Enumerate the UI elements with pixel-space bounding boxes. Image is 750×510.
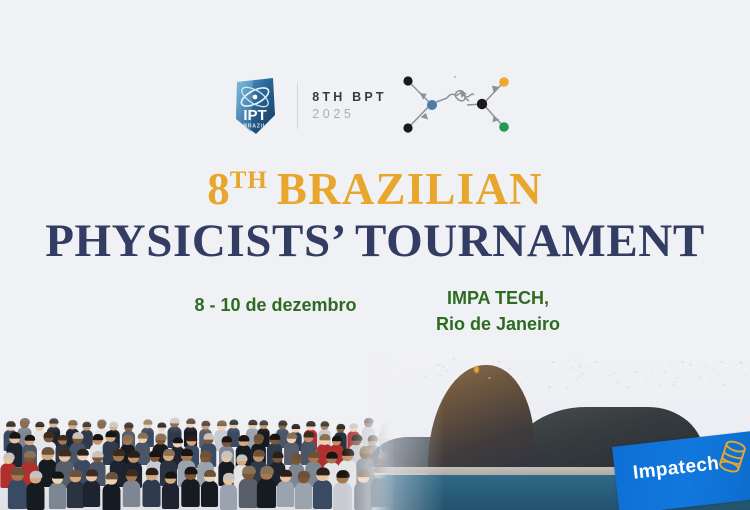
svg-text:BRAZIL: BRAZIL [244,124,267,130]
ipt-logo-icon: IPT BRAZIL [229,75,281,137]
boat [386,378,389,380]
crowd-person-hair [187,435,198,441]
event-poster: IPT BRAZIL 8TH BPT 2025 [0,0,750,510]
sugarloaf-summit-light [474,366,479,373]
boat [705,365,708,367]
page-title-line2: PHYSICISTS’ TOURNAMENT [0,218,750,265]
crowd-person-hair [41,447,54,455]
crowd-person-hair [248,420,257,425]
crowd-person-hair [186,419,195,424]
crowd-person-hair [96,420,105,425]
crowd-person-hair [58,449,71,456]
crowd-person-body [295,482,313,509]
boat [669,362,672,364]
crowd-person-hair [223,473,235,480]
graph-node-orange [499,77,509,87]
crowd-person-body [220,484,237,510]
crowd-person-hair [30,470,43,477]
crowd-person [333,471,352,510]
crowd-person-hair [298,471,310,478]
crowd-person-hair [221,436,232,442]
crowd-person [257,468,276,509]
crowd-person-body [239,479,258,509]
crowd-person-hair [72,432,83,439]
crowd-person [313,468,332,508]
boat [722,384,725,386]
impatech-mark-icon [712,434,750,482]
graph-node-dot [454,76,456,78]
crowd-person [162,472,179,508]
impatech-label: Impatech [632,453,721,485]
crowd-person-hair [5,421,15,427]
crowd-person-hair [320,421,329,426]
crowd-person-hair [145,468,158,475]
crowd-person-hair [349,424,358,429]
title-ordinal-number: 8 [207,164,230,214]
crowd-person-hair [149,450,161,457]
crowd-person-body [182,479,200,507]
boat [645,381,648,383]
crowd-person [142,469,160,507]
crowd-person-hair [163,449,175,456]
crowd-person-hair [259,420,268,425]
title-ordinal-suffix: TH [230,167,268,194]
graph-node-black-bottom [403,123,412,132]
crowd-person-hair [278,420,287,425]
boat [552,361,555,363]
crowd-person-hair [336,470,349,478]
crowd-person [182,468,200,507]
crowd-person-hair [253,434,263,440]
crowd-person-hair [272,451,283,458]
crowd-person-hair [260,466,274,474]
graph-node-green [499,122,509,132]
crowd-person-hair [69,470,81,477]
crowd-person [220,474,237,510]
crowd-person-hair [229,420,238,425]
crowd-person-hair [68,420,77,426]
crowd-person-body [142,480,160,508]
crowd-person [201,471,218,507]
crowd-person-hair [326,452,338,459]
crowd-person-hair [157,422,166,427]
crowd-person-hair [19,418,29,424]
crowd-person-hair [155,433,166,440]
crowd-person-hair [351,434,362,440]
crowd-person [277,471,294,507]
boat [498,361,501,363]
boat [559,379,562,381]
crowd-person-hair [291,454,302,460]
crowd-person [8,468,27,509]
crowd-person-body [122,481,139,508]
boat [446,370,449,372]
crowd-person-hair [203,433,214,439]
crowd-person [295,472,313,509]
crowd-person-hair [109,422,118,427]
title-line1-word: BRAZILIAN [277,164,543,214]
crowd-person-hair [303,431,314,437]
boat [699,376,702,378]
boat [713,368,716,370]
graph-node-black-top [403,76,412,85]
crowd-person-hair [308,451,320,458]
crowd-person [27,471,45,509]
crowd-person-hair [106,472,119,479]
boat [663,371,666,373]
crowd-person-body [27,482,45,510]
crowd-person-hair [203,470,215,477]
crowd-person-hair [199,451,211,458]
crowd-person-body [313,480,332,509]
crowd-person-hair [24,435,34,441]
network-graph-icon [391,68,521,144]
crowd-person-body [83,481,100,508]
venue-line1: IMPA TECH, [400,285,596,311]
crowd-person [66,471,84,508]
crowd-person-hair [170,418,180,424]
crowd-person-hair [316,467,329,475]
crowd-person-hair [57,435,67,441]
crowd-person-hair [172,437,182,443]
boat [508,368,511,370]
crowd-person [49,473,66,509]
crowd-person-hair [319,434,330,440]
crowd-person-hair [124,422,133,427]
crowd-person-hair [35,422,44,427]
boat [593,386,596,388]
event-venue: IMPA TECH, Rio de Janeiro [400,285,596,337]
boat [681,361,684,363]
boat [452,358,455,360]
crowd-person-hair [82,422,91,427]
crowd-person-hair [253,449,265,456]
crowd-person-hair [77,449,89,456]
crowd-person-hair [122,435,132,441]
boat [548,386,551,388]
crowd-person-hair [341,448,353,455]
crowd-person-hair [43,432,54,438]
crowd-person-hair [217,420,227,426]
crowd-person-hair [331,436,341,442]
crowd-person-body [162,482,179,508]
graph-node-black-center [477,99,487,109]
boat [566,387,569,389]
page-title-line1: 8THBRAZILIAN [0,167,750,212]
crowd-person-hair [242,466,256,474]
crowd-person-hair [86,470,98,477]
venue-line2: Rio de Janeiro [400,311,596,337]
boat [617,382,620,384]
crowd-person-body [103,484,121,510]
event-tag: 8TH BPT 2025 [312,89,387,123]
crowd-person-hair [221,451,232,458]
crowd-person-body [333,482,352,510]
boat [525,376,528,378]
crowd-person-hair [9,432,20,439]
boat [392,361,395,363]
crowd-person-hair [49,418,58,423]
crowd-person [83,471,100,508]
crowd-person-hair [270,434,281,440]
crowd-person-hair [184,467,197,475]
crowd-person-hair [291,424,300,429]
crowd-person [239,467,258,508]
crowd-person-hair [143,420,152,425]
crowd-person-hair [181,448,193,455]
boat [607,375,610,377]
crowd-person-hair [92,434,103,440]
boat [488,377,491,379]
crowd-person-hair [91,451,102,458]
group-photo [0,393,392,510]
crowd-person-hair [3,452,14,459]
crowd-person-body [277,481,294,507]
crowd-person-body [201,481,218,507]
boat [634,375,637,377]
boat [672,384,675,386]
crowd-person-hair [236,454,247,461]
crowd-person-hair [24,450,36,457]
svg-text:IPT: IPT [244,107,267,124]
graph-node-blue [427,100,437,110]
boat [387,383,390,385]
crowd-person-body [66,481,84,508]
crowd-person-hair [238,435,249,441]
crowd-person-hair [137,433,148,439]
crowd-person-body [8,479,27,508]
event-tag-line2: 2025 [312,106,387,123]
boat [673,381,676,383]
crowd-person-hair [11,467,25,475]
crowd-person-hair [336,424,345,429]
boat [581,373,584,375]
event-tag-line1: 8TH BPT [312,89,387,106]
crowd-person-hair [128,450,140,457]
logo-divider [297,83,298,129]
crowd-person [122,470,139,507]
boat [739,361,742,363]
ipt-brazil-logo: IPT BRAZIL [229,75,281,137]
crowd-person-hair [51,472,63,479]
crowd-person-hair [201,421,210,426]
boat [686,380,689,382]
crowd-person-hair [105,431,116,437]
crowd-person-hair [165,471,177,478]
crowd-person-hair [112,449,124,456]
crowd-person-hair [286,433,297,439]
crowd-person-body [257,479,276,509]
crowd-person [103,473,121,510]
boat [675,377,678,379]
boat [579,366,582,368]
boat [439,374,442,376]
boat [689,364,692,366]
boat [424,376,427,378]
header-logo-bar: IPT BRAZIL 8TH BPT 2025 [0,66,750,146]
crowd-person-body [49,483,66,509]
crowd-person-hair [280,470,292,477]
crowd-person-hair [306,421,315,426]
boat [374,381,377,383]
boat [658,384,661,386]
crowd-person-hair [125,469,137,476]
